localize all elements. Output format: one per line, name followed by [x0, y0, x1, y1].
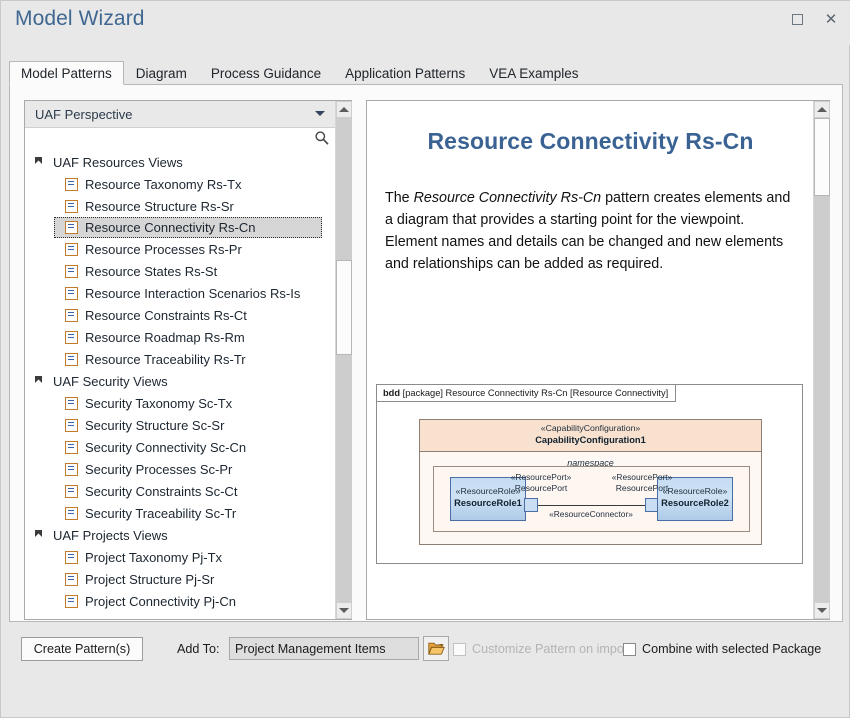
tree-item-label: Resource Connectivity Rs-Cn [85, 220, 256, 235]
scrollbar-thumb[interactable] [336, 260, 352, 355]
tree-item-label: Resource Taxonomy Rs-Tx [85, 177, 242, 192]
pattern-icon [65, 397, 78, 410]
capability-configuration-node: «CapabilityConfiguration» CapabilityConf… [419, 419, 762, 545]
search-input[interactable] [25, 128, 336, 150]
tree-item-row[interactable]: Security Constraints Sc-Ct [26, 480, 335, 502]
pattern-icon [65, 287, 78, 300]
pattern-icon [65, 265, 78, 278]
tree-item-row[interactable]: Project Structure Pj-Sr [26, 568, 335, 590]
tree-item-row[interactable]: Resource Traceability Rs-Tr [26, 348, 335, 370]
capability-stereotype: «CapabilityConfiguration» [420, 422, 761, 434]
tree-item-row[interactable]: Resource Roadmap Rs-Rm [26, 326, 335, 348]
tree-item-label: Project Structure Pj-Sr [85, 572, 214, 587]
expander-icon[interactable] [34, 529, 47, 542]
capability-header: «CapabilityConfiguration» CapabilityConf… [420, 420, 761, 452]
perspective-value: UAF Perspective [35, 107, 133, 122]
window-controls: ✕ [787, 9, 841, 29]
tree-item-label: Resource Traceability Rs-Tr [85, 352, 246, 367]
resource-port-2-stereotype: «ResourcePort» [597, 472, 687, 483]
tree-item-row-selected[interactable]: Resource Connectivity Rs-Cn [54, 217, 322, 238]
tab-model-patterns[interactable]: Model Patterns [9, 61, 124, 85]
triangle-up-icon [817, 107, 827, 112]
expander-icon[interactable] [34, 156, 47, 169]
pattern-icon [65, 243, 78, 256]
pattern-icon [65, 200, 78, 213]
tree-item-label: UAF Resources Views [53, 155, 183, 170]
tree-item-label: Security Constraints Sc-Ct [85, 484, 237, 499]
add-to-field[interactable]: Project Management Items [229, 637, 419, 660]
search-icon[interactable] [314, 130, 330, 146]
tree-item-row[interactable]: Resource Interaction Scenarios Rs-Is [26, 282, 335, 304]
perspective-combobox[interactable]: UAF Perspective [25, 101, 336, 128]
capability-name: CapabilityConfiguration1 [420, 434, 761, 447]
tree-group-row[interactable]: UAF Projects Views [26, 524, 335, 546]
close-button[interactable]: ✕ [821, 9, 841, 29]
resource-port-1-name: ResourcePort [496, 483, 586, 494]
pattern-icon [65, 595, 78, 608]
combine-package-checkbox[interactable]: Combine with selected Package [623, 642, 821, 656]
pattern-icon [65, 353, 78, 366]
tree-item-row[interactable]: Security Processes Sc-Pr [26, 458, 335, 480]
description-emphasis: Resource Connectivity Rs-Cn [414, 190, 602, 206]
scrollbar-track[interactable] [336, 118, 352, 602]
pattern-icon [65, 441, 78, 454]
tab-application-patterns[interactable]: Application Patterns [333, 61, 477, 85]
pattern-icon [65, 485, 78, 498]
resource-port-1-label: «ResourcePort» ResourcePort [496, 472, 586, 494]
tree-item-label: Security Processes Sc-Pr [85, 462, 232, 477]
preview-content: Resource Connectivity Rs-Cn The Resource… [367, 101, 814, 619]
tree-item-row[interactable]: Resource Constraints Rs-Ct [26, 304, 335, 326]
folder-open-icon [428, 641, 445, 656]
add-to-label: Add To: [177, 642, 219, 656]
pattern-tree-panel: UAF Perspective UAF Resources ViewsResou… [24, 100, 352, 620]
tree-item-label: Resource States Rs-St [85, 264, 217, 279]
tree-item-row[interactable]: Resource Structure Rs-Sr [26, 195, 335, 217]
tab-vea-examples[interactable]: VEA Examples [477, 61, 590, 85]
diagram-scope-label: [package] Resource Connectivity Rs-Cn [R… [403, 388, 669, 398]
triangle-down-icon [339, 608, 349, 613]
title-bar: Model Wizard ✕ [1, 1, 850, 45]
tree-item-row[interactable]: Security Connectivity Sc-Cn [26, 436, 335, 458]
pattern-icon [65, 551, 78, 564]
close-icon: ✕ [825, 12, 838, 27]
description-pre: The [385, 190, 414, 206]
pattern-icon [65, 309, 78, 322]
pattern-icon [65, 507, 78, 520]
tree-item-label: Resource Roadmap Rs-Rm [85, 330, 245, 345]
pattern-icon [65, 221, 78, 234]
tree-item-label: Resource Interaction Scenarios Rs-Is [85, 286, 300, 301]
preview-scrollbar[interactable] [813, 101, 829, 619]
resource-connector-line [538, 505, 647, 506]
maximize-icon [792, 14, 803, 25]
browse-package-button[interactable] [423, 636, 449, 661]
tree-item-label: Security Traceability Sc-Tr [85, 506, 236, 521]
tab-diagram[interactable]: Diagram [124, 61, 199, 85]
diagram-frame-label: bdd [package] Resource Connectivity Rs-C… [377, 385, 676, 402]
expander-icon[interactable] [34, 375, 47, 388]
pattern-icon [65, 573, 78, 586]
maximize-button[interactable] [787, 9, 807, 29]
chevron-down-icon [315, 111, 325, 116]
tree-item-label: Security Taxonomy Sc-Tx [85, 396, 232, 411]
model-wizard-window: Model Wizard ✕ Model Patterns Diagram Pr… [0, 0, 850, 718]
tree-item-row[interactable]: Project Connectivity Pj-Cn [26, 590, 335, 612]
tab-process-guidance[interactable]: Process Guidance [199, 61, 333, 85]
namespace-compartment: «ResourceRole» ResourceRole1 «ResourceRo… [433, 466, 750, 532]
preview-scrollbar-track[interactable] [814, 118, 830, 602]
tree-item-label: Project Taxonomy Pj-Tx [85, 550, 222, 565]
resource-port-1-stereotype: «ResourcePort» [496, 472, 586, 483]
resource-connector-label: «ResourceConnector» [496, 509, 686, 519]
tree-item-row[interactable]: Resource Taxonomy Rs-Tx [26, 173, 335, 195]
tree-item-row[interactable]: Security Structure Sc-Sr [26, 414, 335, 436]
pattern-icon [65, 419, 78, 432]
tree-group-row[interactable]: UAF Security Views [26, 370, 335, 392]
action-bar: Create Pattern(s) Add To: Project Manage… [1, 629, 850, 675]
tree-item-label: Security Structure Sc-Sr [85, 418, 224, 433]
diagram-kind: bdd [383, 388, 400, 398]
tree-item-row[interactable]: Security Taxonomy Sc-Tx [26, 392, 335, 414]
pattern-preview-panel: Resource Connectivity Rs-Cn The Resource… [366, 100, 830, 620]
customize-pattern-label: Customize Pattern on import [472, 642, 632, 656]
tree-item-label: Resource Constraints Rs-Ct [85, 308, 247, 323]
customize-pattern-checkbox[interactable]: Customize Pattern on import [453, 642, 632, 656]
tree-group-row[interactable]: UAF Resources Views [26, 151, 335, 173]
triangle-up-icon [339, 107, 349, 112]
preview-scrollbar-thumb[interactable] [814, 118, 830, 196]
pattern-diagram: bdd [package] Resource Connectivity Rs-C… [376, 376, 803, 564]
create-patterns-button[interactable]: Create Pattern(s) [21, 637, 143, 661]
tree-item-row[interactable]: Resource States Rs-St [26, 260, 335, 282]
scroll-down-button[interactable] [336, 602, 352, 619]
tab-content-panel: UAF Perspective UAF Resources ViewsResou… [9, 85, 843, 622]
resource-port-2-label: «ResourcePort» ResourcePort [597, 472, 687, 494]
tree-item-row[interactable]: Resource Processes Rs-Pr [26, 238, 335, 260]
tree-scrollbar[interactable] [335, 101, 351, 619]
pattern-icon [65, 463, 78, 476]
pattern-tree[interactable]: UAF Resources ViewsResource Taxonomy Rs-… [26, 151, 335, 619]
diagram-frame: bdd [package] Resource Connectivity Rs-C… [376, 384, 803, 564]
triangle-down-icon [817, 608, 827, 613]
pattern-icon [65, 178, 78, 191]
tree-item-label: UAF Projects Views [53, 528, 168, 543]
preview-description: The Resource Connectivity Rs-Cn pattern … [385, 187, 796, 275]
combine-package-label: Combine with selected Package [642, 642, 821, 656]
pattern-icon [65, 331, 78, 344]
tree-item-label: UAF Security Views [53, 374, 168, 389]
scroll-up-button[interactable] [336, 101, 352, 118]
checkbox-box[interactable] [623, 643, 636, 656]
tree-item-label: Resource Processes Rs-Pr [85, 242, 242, 257]
page-title: Model Wizard [15, 7, 145, 31]
tree-item-label: Resource Structure Rs-Sr [85, 199, 234, 214]
preview-scroll-up-button[interactable] [814, 101, 830, 118]
resource-port-2-name: ResourcePort [597, 483, 687, 494]
tree-item-row[interactable]: Project Taxonomy Pj-Tx [26, 546, 335, 568]
checkbox-box[interactable] [453, 643, 466, 656]
preview-scroll-down-button[interactable] [814, 602, 830, 619]
tab-bar: Model Patterns Diagram Process Guidance … [9, 61, 843, 85]
preview-title: Resource Connectivity Rs-Cn [367, 128, 814, 155]
tree-item-row[interactable]: Security Traceability Sc-Tr [26, 502, 335, 524]
tree-item-label: Project Connectivity Pj-Cn [85, 594, 236, 609]
tree-item-label: Security Connectivity Sc-Cn [85, 440, 246, 455]
